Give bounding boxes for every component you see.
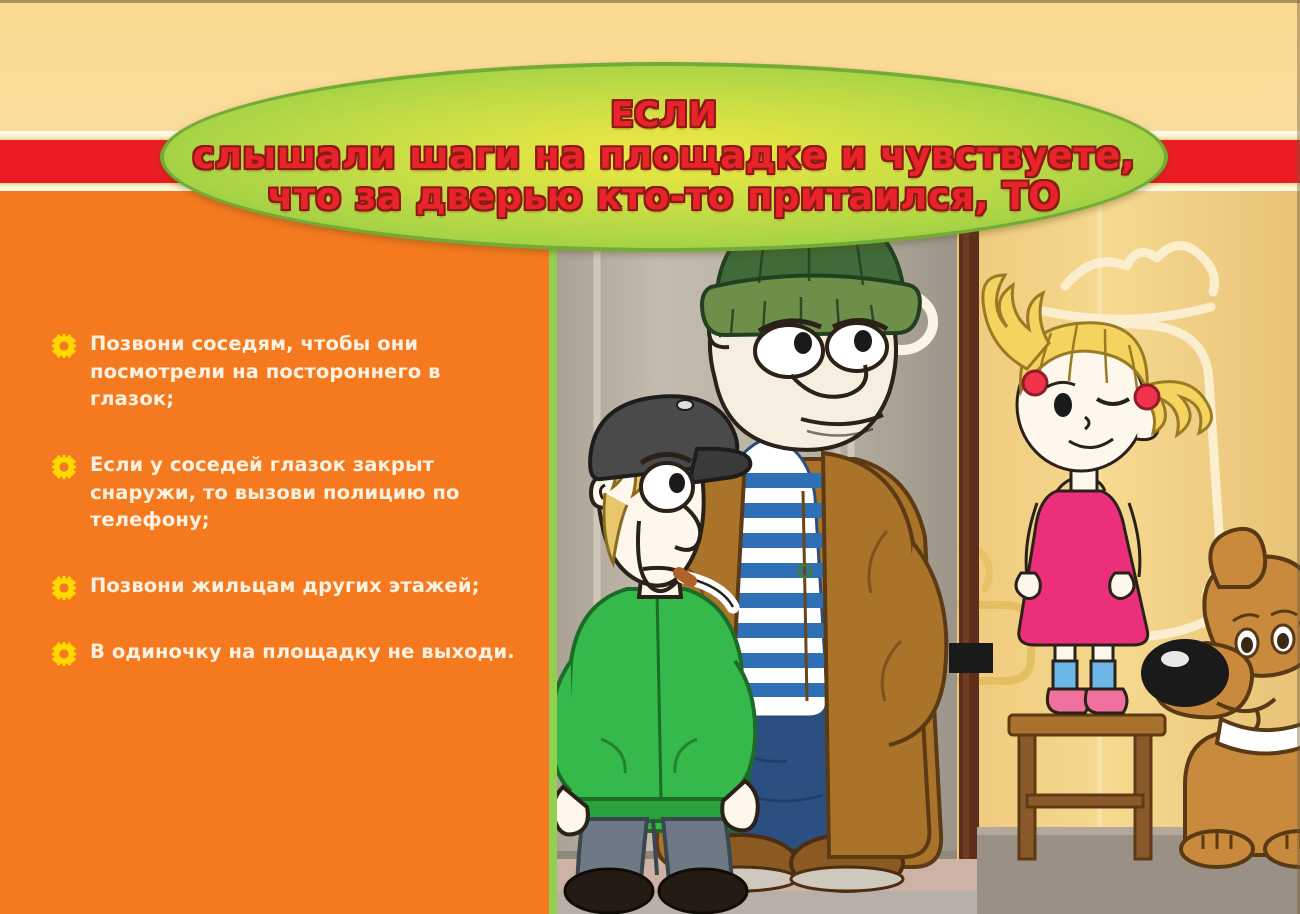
sock-left: [1053, 661, 1077, 689]
page-edge-top: [0, 0, 1300, 3]
girl-eye-open: [1054, 393, 1072, 417]
dog-nose: [1141, 639, 1229, 707]
cap-brim: [702, 275, 920, 335]
list-item-text: Позвони жильцам других этажей;: [90, 572, 479, 600]
list-item: В одиночку на площадку не выходи.: [52, 638, 530, 666]
shoe-right: [1085, 689, 1127, 713]
title-banner: ЕСЛИ слышали шаги на площадке и чувствуе…: [160, 62, 1168, 252]
shoe-right: [659, 869, 747, 913]
list-item-text: Позвони соседям, чтобы они посмотрели на…: [90, 330, 530, 413]
hair-tie-left: [1023, 371, 1047, 395]
advice-bullet-list: Позвони соседям, чтобы они посмотрели на…: [52, 330, 530, 704]
hair-tie-right: [1135, 385, 1159, 409]
illustration-panel: [557, 191, 1300, 914]
list-item-text: В одиночку на площадку не выходи.: [90, 638, 515, 666]
list-item: Если у соседей глазок закрыт снаружи, то…: [52, 451, 530, 534]
girl-hand-left: [1016, 573, 1040, 599]
shoe-left: [1047, 689, 1089, 713]
sun-bullet-icon: [52, 455, 76, 479]
list-item-text: Если у соседей глазок закрыт снаружи, то…: [90, 451, 530, 534]
door-hinge: [949, 643, 993, 673]
sun-bullet-icon: [52, 576, 76, 600]
list-item: Позвони жильцам других этажей;: [52, 572, 530, 600]
list-item: Позвони соседям, чтобы они посмотрели на…: [52, 330, 530, 413]
sun-bullet-icon: [52, 334, 76, 358]
sock-right: [1091, 661, 1115, 689]
title-line-3: что за дверью кто-то притаился, ТО: [268, 178, 1060, 216]
title-line-2: слышали шаги на площадке и чувствуете,: [193, 137, 1136, 175]
safety-poster: ЕСЛИ слышали шаги на площадке и чувствуе…: [0, 0, 1300, 914]
door-frame-highlight: [963, 209, 969, 914]
shoe-left: [565, 869, 653, 913]
girl-hand-right: [1110, 573, 1134, 599]
dog-ear-left: [1210, 529, 1265, 587]
sun-bullet-icon: [52, 642, 76, 666]
title-line-1: ЕСЛИ: [611, 98, 718, 133]
scene-illustration: [557, 191, 1300, 914]
